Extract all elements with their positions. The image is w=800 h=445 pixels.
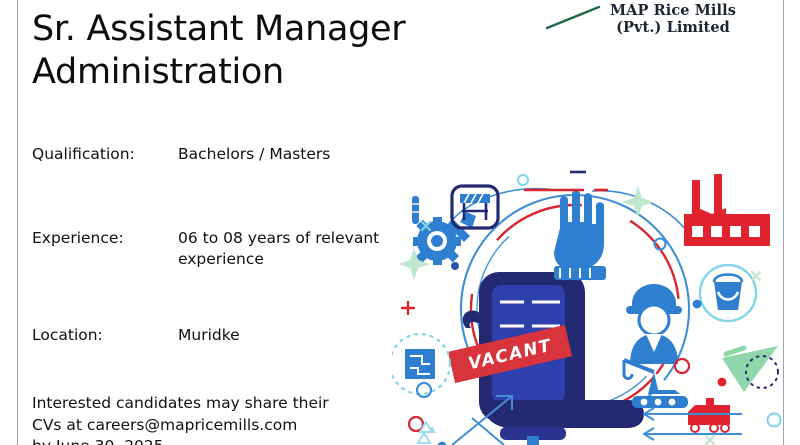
paint-bucket-icon <box>700 265 756 321</box>
chair-seat <box>484 400 644 428</box>
vacancy-illustration: VACANT <box>392 168 784 445</box>
job-title-line1: Sr. Assistant Manager <box>32 8 492 51</box>
factory-icon <box>684 174 770 246</box>
experience-label: Experience: <box>32 228 124 249</box>
qualification-label: Qualification: <box>32 144 135 165</box>
footer-line-1: Interested candidates may share their <box>32 393 452 415</box>
job-title-line2: Administration <box>32 51 492 94</box>
decor-dashes <box>524 172 608 190</box>
crane-icon <box>624 360 688 408</box>
barrier-icon <box>452 186 498 228</box>
job-posting-poster: MAP Rice Mills (Pvt.) Limited Sr. Assist… <box>0 0 800 445</box>
location-label: Location: <box>32 325 103 346</box>
footer-line-3-deadline: by June 30, 2025 <box>32 436 452 445</box>
experience-value-line1: 06 to 08 years of relevant <box>178 229 379 247</box>
ruler-icon <box>412 196 419 224</box>
company-name-line2: (Pvt.) Limited <box>597 19 749 36</box>
trowel-icon <box>722 346 778 392</box>
job-title: Sr. Assistant Manager Administration <box>32 8 492 94</box>
company-name: MAP Rice Mills (Pvt.) Limited <box>597 2 749 36</box>
company-logo: MAP Rice Mills (Pvt.) Limited <box>545 2 750 48</box>
frame-left-rule <box>17 0 18 445</box>
blueprint-icon <box>392 334 450 394</box>
rice-stalk-icon <box>545 6 601 30</box>
company-name-line1: MAP Rice Mills <box>597 2 749 19</box>
qualification-value: Bachelors / Masters <box>178 144 478 165</box>
gear-wrench-icon <box>413 212 476 265</box>
application-instructions: Interested candidates may share their CV… <box>32 393 452 445</box>
experience-value-line2: experience <box>178 250 264 268</box>
footer-line-2-email[interactable]: CVs at careers@mapricemills.com <box>32 415 452 437</box>
chair-cylinder <box>527 436 539 445</box>
worker-icon <box>626 284 682 364</box>
safety-glove-icon <box>554 190 606 280</box>
